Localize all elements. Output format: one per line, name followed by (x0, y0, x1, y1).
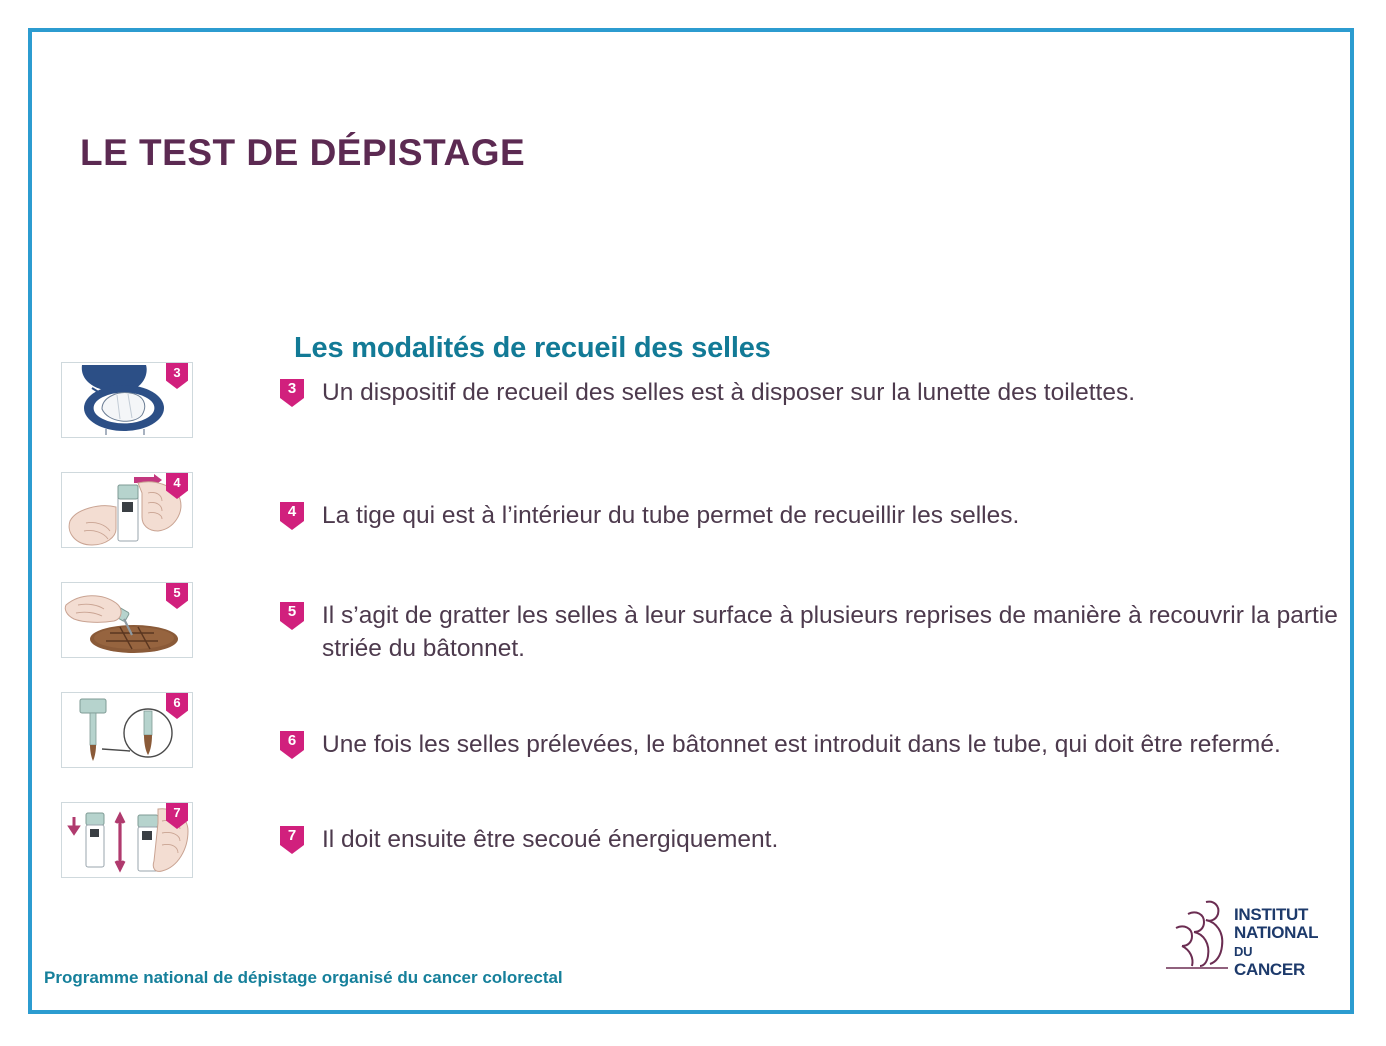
step-item-7: 7 Il doit ensuite être secoué énergiquem… (280, 823, 778, 856)
page-title: LE TEST DE DÉPISTAGE (80, 132, 525, 174)
logo-cancer: CANCER (1234, 961, 1318, 979)
logo-line-institut: INSTITUT (1234, 906, 1318, 924)
inca-human-figures-logo-mark (1162, 894, 1240, 972)
illustration-column: 3 4 (61, 362, 197, 912)
inca-logo-wordmark: INSTITUT NATIONAL DUCANCER (1234, 906, 1318, 979)
illustration-thumbnail-6: 6 (61, 692, 193, 768)
footer-programme-text: Programme national de dépistage organisé… (44, 968, 563, 988)
section-subtitle: Les modalités de recueil des selles (294, 332, 771, 365)
step-text-4: La tige qui est à l’intérieur du tube pe… (322, 499, 1019, 532)
step-item-5: 5 Il s’agit de gratter les selles à leur… (280, 599, 1382, 665)
step-badge-3: 3 (280, 379, 304, 407)
illustration-thumbnail-4: 4 (61, 472, 193, 548)
illustration-thumbnail-5: 5 (61, 582, 193, 658)
step-item-4: 4 La tige qui est à l’intérieur du tube … (280, 499, 1019, 532)
step-text-7: Il doit ensuite être secoué énergiquemen… (322, 823, 778, 856)
step-text-6: Une fois les selles prélevées, le bâtonn… (322, 728, 1322, 761)
illustration-thumbnail-7: 7 (61, 802, 193, 878)
step-text-5: Il s’agit de gratter les selles à leur s… (322, 599, 1382, 665)
step-text-3: Un dispositif de recueil des selles est … (322, 376, 1135, 409)
step-badge-5: 5 (280, 602, 304, 630)
step-badge-6: 6 (280, 731, 304, 759)
inca-logo: INSTITUT NATIONAL DUCANCER (1162, 894, 1330, 976)
step-badge-7: 7 (280, 826, 304, 854)
logo-du: DU (1234, 944, 1252, 959)
step-item-3: 3 Un dispositif de recueil des selles es… (280, 376, 1135, 409)
step-item-6: 6 Une fois les selles prélevées, le bâto… (280, 728, 1322, 761)
illustration-thumbnail-3: 3 (61, 362, 193, 438)
slide-frame: LE TEST DE DÉPISTAGE Les modalités de re… (28, 28, 1354, 1014)
step-badge-4: 4 (280, 502, 304, 530)
logo-line-national: NATIONAL (1234, 924, 1318, 942)
logo-line-du-cancer: DUCANCER (1234, 942, 1318, 979)
